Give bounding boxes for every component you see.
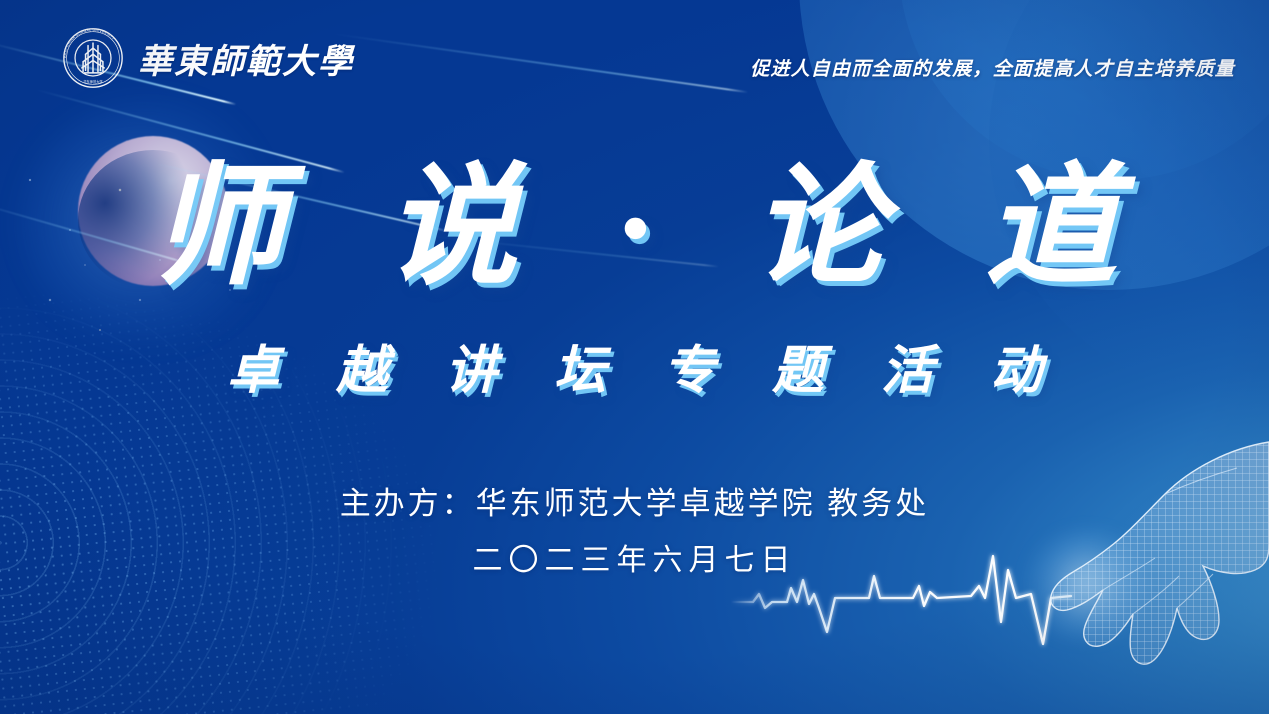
event-poster: EAST CHINA NORMAL UNIVERSITY 华东师范大学 華東師範…	[0, 0, 1269, 714]
vignette-overlay	[0, 0, 1269, 714]
